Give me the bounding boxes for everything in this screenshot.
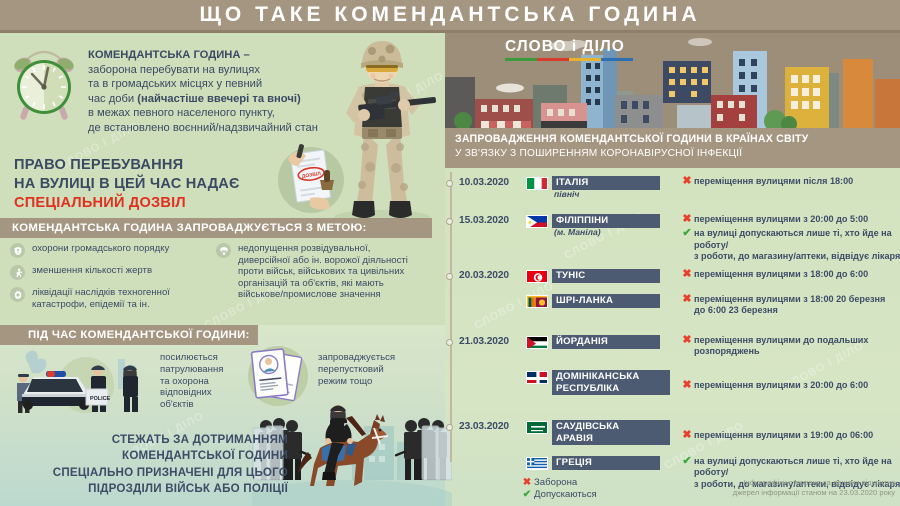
during-text-left: посилюється патрулювання та охорона відп… bbox=[160, 352, 240, 411]
country-rules: ✖ переміщення вулицями з 20:00 до 5:00 ✔… bbox=[680, 214, 900, 265]
legend-item-allowed: ✔ Допускаються bbox=[520, 489, 597, 500]
rule-item: ✖ переміщення вулицями з 19:00 до 06:00 bbox=[680, 430, 900, 441]
rule-item: ✖ переміщення вулицями з 20:00 до 5:00 bbox=[680, 214, 900, 225]
page-title: ЩО ТАКЕ КОМЕНДАНТСЬКА ГОДИНА bbox=[0, 0, 900, 30]
country-date: 15.03.2020 bbox=[459, 215, 523, 226]
italy-flag bbox=[526, 177, 548, 190]
parachute-icon bbox=[216, 243, 231, 258]
prohibition-mark-icon: ✖ bbox=[520, 477, 534, 488]
definition-line-3: час доби (найчастіше ввечері та вночі) bbox=[88, 92, 318, 107]
allowed-mark-icon: ✔ bbox=[680, 228, 694, 239]
bottom-note-line-1: СТЕЖАТЬ ЗА ДОТРИМАННЯМ bbox=[18, 432, 288, 448]
timeline-dot bbox=[446, 180, 453, 187]
country-name: САУДІВСЬКА АРАВІЯ bbox=[552, 420, 670, 445]
purpose-banner: КОМЕНДАНТСЬКА ГОДИНА ЗАПРОВАДЖУЄТЬСЯ З М… bbox=[0, 218, 432, 238]
title-underline bbox=[0, 30, 900, 33]
definition-line-3b: (найчастіше ввечері та вночі) bbox=[137, 93, 300, 105]
page-title-bar: ЩО ТАКЕ КОМЕНДАНТСЬКА ГОДИНА bbox=[0, 0, 900, 30]
during-text-right: запроваджується перепустковий режим тощо bbox=[318, 352, 410, 387]
country-rules: ✖ переміщення вулицями з 19:00 до 06:00 bbox=[680, 430, 900, 443]
dominican-flag bbox=[526, 371, 548, 384]
permit-document-illustration: ДОЗВІЛ bbox=[268, 140, 354, 218]
permission-line-2: НА ВУЛИЦІ В ЦЕЙ ЧАС НАДАЄ bbox=[14, 175, 274, 194]
country-rules: ✖ переміщення вулицями з 20:00 до 6:00 bbox=[680, 380, 900, 393]
goal-text: ліквідації наслідків техногенної катастр… bbox=[32, 287, 170, 310]
rule-item: ✖ переміщення вулицями з 18:00 20 березн… bbox=[680, 294, 900, 317]
legend: ✖ Заборона ✔ Допускаються bbox=[520, 477, 597, 501]
legend-label: Заборона bbox=[534, 477, 577, 488]
definition-line-4: в межах певного населеного пункту, bbox=[88, 106, 318, 121]
prohibition-mark-icon: ✖ bbox=[680, 294, 694, 305]
country-date: 21.03.2020 bbox=[459, 336, 523, 347]
goal-text: охорони громадського порядку bbox=[32, 243, 169, 255]
greece-flag bbox=[526, 457, 548, 470]
during-curfew-banner: ПІД ЧАС КОМЕНДАНТСЬКОЇ ГОДИНИ: bbox=[0, 325, 258, 345]
gear-icon bbox=[10, 287, 25, 302]
srilanka-flag bbox=[526, 295, 548, 308]
philippines-flag bbox=[526, 215, 548, 228]
goal-text: недопущення розвідувальної, диверсійної … bbox=[238, 243, 408, 301]
timeline-dot bbox=[446, 273, 453, 280]
prohibition-mark-icon: ✖ bbox=[680, 335, 694, 346]
rule-item: ✔ на вулиці допускаються лише ті, хто йд… bbox=[680, 228, 900, 262]
goals-column-left: охорони громадського порядку зменшення к… bbox=[10, 243, 210, 317]
running-person-icon bbox=[10, 265, 25, 280]
goal-item: ліквідації наслідків техногенної катастр… bbox=[10, 287, 210, 310]
permission-line-1: ПРАВО ПЕРЕБУВАННЯ bbox=[14, 156, 274, 175]
country-rules: ✖ переміщення вулицями з 18:00 до 6:00 bbox=[680, 269, 900, 282]
rule-text: переміщення вулицями з 18:00 до 6:00 bbox=[694, 269, 868, 280]
source-line-1: Інфографіку створено за даними відкритих bbox=[660, 478, 895, 488]
goals-column-right: недопущення розвідувальної, диверсійної … bbox=[216, 243, 444, 308]
timeline-dot bbox=[446, 424, 453, 431]
police-patrol-illustration: POLICE POLICE bbox=[6, 345, 156, 420]
jordan-flag bbox=[526, 336, 548, 349]
permission-block: ПРАВО ПЕРЕБУВАННЯ НА ВУЛИЦІ В ЦЕЙ ЧАС НА… bbox=[14, 156, 274, 213]
prohibition-mark-icon: ✖ bbox=[680, 430, 694, 441]
definition-line-1: заборона перебувати на вулицях bbox=[88, 63, 318, 78]
logo-i: і bbox=[572, 38, 577, 55]
world-curfew-header-line-1: ЗАПРОВАДЖЕННЯ КОМЕНДАНТСЬКОЇ ГОДИНИ В КР… bbox=[455, 132, 900, 147]
tunisia-flag bbox=[526, 270, 548, 283]
police-car-label: POLICE bbox=[37, 398, 57, 404]
world-curfew-header-line-2: У ЗВ'ЯЗКУ З ПОШИРЕННЯМ КОРОНАВІРУСНОЇ ІН… bbox=[455, 147, 900, 161]
country-name: ФІЛІППІНИ bbox=[552, 214, 660, 228]
prohibition-mark-icon: ✖ bbox=[680, 176, 694, 187]
goal-item: зменшення кількості жертв bbox=[10, 265, 210, 280]
timeline-axis bbox=[450, 172, 452, 462]
rule-item: ✖ переміщення вулицями до подальших розп… bbox=[680, 335, 900, 358]
logo-slovo: СЛОВО bbox=[505, 38, 567, 55]
definition-term: КОМЕНДАНТСЬКА ГОДИНА – bbox=[88, 48, 318, 63]
goal-item: недопущення розвідувальної, диверсійної … bbox=[216, 243, 444, 301]
prohibition-mark-icon: ✖ bbox=[680, 214, 694, 225]
goal-text: зменшення кількості жертв bbox=[32, 265, 152, 277]
rule-text: переміщення вулицями з 20:00 до 5:00 bbox=[694, 214, 868, 225]
country-date: 10.03.2020 bbox=[459, 177, 523, 188]
logo-dilo: ДІЛО bbox=[583, 38, 625, 55]
rule-item: ✖ переміщення вулицями з 18:00 до 6:00 bbox=[680, 269, 900, 280]
country-date: 20.03.2020 bbox=[459, 270, 523, 281]
shield-person-icon bbox=[10, 243, 25, 258]
alarm-clock-icon bbox=[8, 40, 80, 125]
allowed-mark-icon: ✔ bbox=[680, 456, 694, 467]
rule-item: ✖ переміщення вулицями з 20:00 до 6:00 bbox=[680, 380, 900, 391]
during-curfew-banner-label: ПІД ЧАС КОМЕНДАНТСЬКОЇ ГОДИНИ: bbox=[28, 329, 250, 341]
timeline-dot bbox=[446, 339, 453, 346]
legend-label: Допускаються bbox=[534, 489, 597, 500]
saudi-flag bbox=[526, 421, 548, 434]
bottom-note-line-2: КОМЕНДАНТСЬКОЇ ГОДИНИ bbox=[18, 448, 288, 464]
rule-text: переміщення вулицями після 18:00 bbox=[694, 176, 853, 187]
source-line-2: джерел інформації станом на 23.03.2020 р… bbox=[660, 488, 895, 498]
rule-text: переміщення вулицями з 19:00 до 06:00 bbox=[694, 430, 873, 441]
logo-underline-bars bbox=[505, 58, 633, 61]
country-name: ТУНІС bbox=[552, 269, 660, 283]
country-subname: північ bbox=[554, 189, 579, 199]
rule-text: на вулиці допускаються лише ті, хто йде … bbox=[694, 228, 900, 262]
country-rules: ✖ переміщення вулицями з 18:00 20 березн… bbox=[680, 294, 900, 319]
prohibition-mark-icon: ✖ bbox=[680, 380, 694, 391]
country-rules: ✖ переміщення вулицями до подальших розп… bbox=[680, 335, 900, 360]
country-date: 23.03.2020 bbox=[459, 421, 523, 432]
bottom-note-line-3: СПЕЦІАЛЬНО ПРИЗНАЧЕНІ ДЛЯ ЦЬОГО bbox=[18, 465, 288, 481]
rule-text: переміщення вулицями з 20:00 до 6:00 bbox=[694, 380, 868, 391]
definition-line-3a: час доби bbox=[88, 93, 137, 105]
world-curfew-header: ЗАПРОВАДЖЕННЯ КОМЕНДАНТСЬКОЇ ГОДИНИ В КР… bbox=[445, 128, 900, 168]
police-shield-label: POLICE bbox=[90, 396, 110, 402]
curfew-definition: КОМЕНДАНТСЬКА ГОДИНА – заборона перебува… bbox=[88, 48, 318, 136]
allowed-mark-icon: ✔ bbox=[520, 489, 534, 500]
country-name: ІТАЛІЯ bbox=[552, 176, 660, 190]
permission-line-3: СПЕЦІАЛЬНИЙ ДОЗВІЛ bbox=[14, 194, 274, 213]
country-subname: (м. Маніла) bbox=[554, 227, 601, 237]
country-name: ЙОРДАНІЯ bbox=[552, 335, 660, 349]
prohibition-mark-icon: ✖ bbox=[680, 269, 694, 280]
country-rules: ✖ переміщення вулицями після 18:00 bbox=[680, 176, 900, 189]
rule-text: переміщення вулицями до подальших розпор… bbox=[694, 335, 868, 358]
country-name: ГРЕЦІЯ bbox=[552, 456, 660, 470]
goal-item: охорони громадського порядку bbox=[10, 243, 210, 258]
bottom-note: СТЕЖАТЬ ЗА ДОТРИМАННЯМ КОМЕНДАНТСЬКОЇ ГО… bbox=[18, 432, 288, 498]
source-note: Інфографіку створено за даними відкритих… bbox=[660, 478, 895, 497]
country-name: ДОМІНІКАНСЬКА РЕСПУБЛІКА bbox=[552, 370, 670, 395]
country-name: ШРІ-ЛАНКА bbox=[552, 294, 660, 308]
definition-line-2: та в громадських місцях у певний bbox=[88, 77, 318, 92]
timeline-dot bbox=[446, 218, 453, 225]
brand-logo[interactable]: СЛОВО і ДІЛО bbox=[505, 38, 655, 64]
rule-item: ✖ переміщення вулицями після 18:00 bbox=[680, 176, 900, 187]
bottom-note-line-4: ПІДРОЗДІЛИ ВІЙСЬК АБО ПОЛІЦІЇ bbox=[18, 481, 288, 497]
legend-item-prohibited: ✖ Заборона bbox=[520, 477, 597, 488]
rule-text: переміщення вулицями з 18:00 20 березня … bbox=[694, 294, 885, 317]
infographic-page: ЩО ТАКЕ КОМЕНДАНТСЬКА ГОДИНА СЛОВО і ДІЛ… bbox=[0, 0, 900, 506]
purpose-banner-label: КОМЕНДАНТСЬКА ГОДИНА ЗАПРОВАДЖУЄТЬСЯ З М… bbox=[12, 222, 367, 234]
